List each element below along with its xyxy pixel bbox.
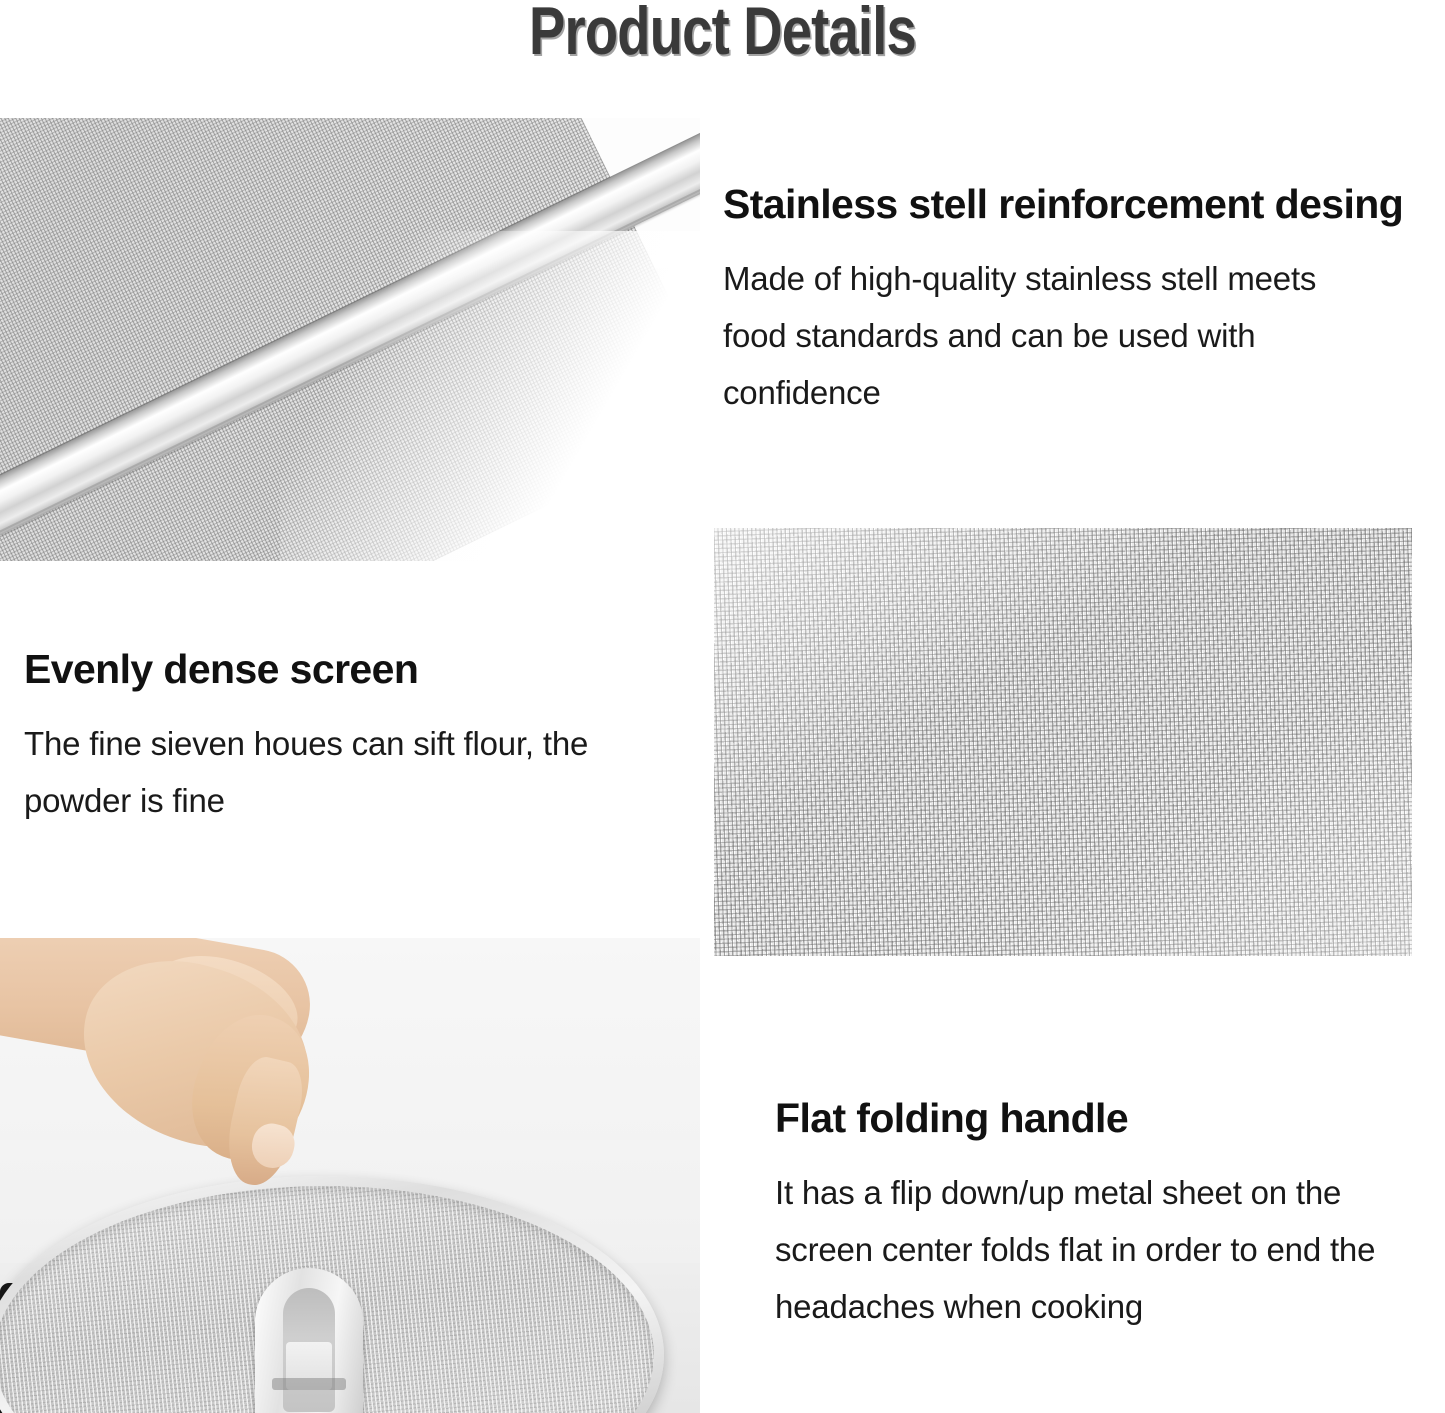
page-title: Product Details: [145, 0, 1301, 68]
hand-lifting-screen-photo: [0, 938, 700, 1413]
feature-evenly-dense-screen: Evenly dense screen The fine sieven houe…: [24, 645, 684, 829]
feature-body: Made of high-quality stainless stell mee…: [723, 250, 1363, 421]
feature-heading: Stainless stell reinforcement desing: [723, 180, 1445, 228]
folding-handle-hinge: [272, 1378, 346, 1390]
mesh-light-sheen: [714, 528, 1412, 956]
feature-body: It has a flip down/up metal sheet on the…: [775, 1164, 1430, 1335]
feature-heading: Evenly dense screen: [24, 645, 684, 693]
feature-heading: Flat folding handle: [775, 1094, 1435, 1142]
mesh-texture-photo: [714, 528, 1412, 956]
feature-flat-folding-handle: Flat folding handle It has a flip down/u…: [775, 1094, 1435, 1335]
screen-edge-closeup-photo: [0, 118, 700, 561]
feature-body: The fine sieven houes can sift flour, th…: [24, 715, 674, 829]
feature-stainless-steel-reinforcement: Stainless stell reinforcement desing Mad…: [723, 180, 1445, 421]
photo-white-fade: [280, 231, 700, 561]
